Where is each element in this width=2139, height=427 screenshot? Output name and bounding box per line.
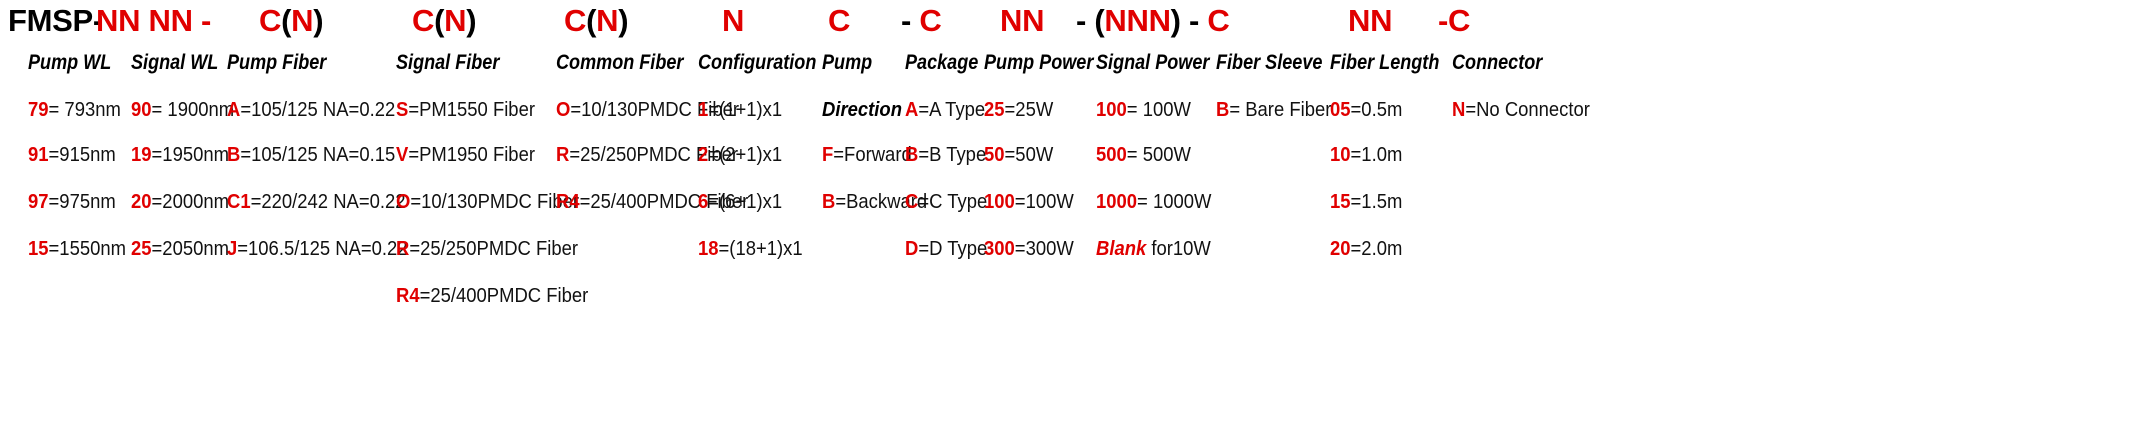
option-value: =1.5m	[1351, 190, 1403, 213]
option-value: =(18+1)x1	[719, 237, 803, 260]
option-row-fiber-length: 20=2.0m	[1330, 237, 1402, 261]
option-key: 91	[28, 143, 49, 166]
option-key: A	[905, 98, 918, 121]
option-key: 100	[1096, 98, 1127, 121]
option-row-signal-wl: 20=2000nm	[131, 190, 229, 214]
option-row-pump-power: 25=25W	[984, 98, 1053, 122]
option-key: C1	[227, 190, 251, 213]
option-key: O	[556, 98, 570, 121]
part-number-segment: - C	[901, 1, 941, 41]
option-value: = 100W	[1127, 98, 1191, 121]
option-row-package: A=A Type	[905, 98, 985, 122]
option-value: =PM1950 Fiber	[408, 143, 535, 166]
part-number-segment: NN	[1000, 1, 1044, 41]
option-value: =D Type	[918, 237, 987, 260]
option-key: 2	[698, 143, 708, 166]
option-value: =B Type	[918, 143, 986, 166]
option-row-signal-power: 500= 500W	[1096, 143, 1191, 167]
option-key: R	[396, 237, 409, 260]
option-value: =106.5/125 NA=0.22	[237, 237, 407, 260]
option-value: = 500W	[1127, 143, 1191, 166]
option-value: =2050nm	[152, 237, 229, 260]
option-value: =25W	[1005, 98, 1054, 121]
option-value: =(6+1)x1	[708, 190, 782, 213]
part-number-segment: C(N)	[259, 1, 323, 41]
option-value: =(2+1)x1	[708, 143, 782, 166]
option-key: 25	[984, 98, 1005, 121]
option-row-package: B=B Type	[905, 143, 986, 167]
part-number-segment: - (NNN) - C	[1076, 1, 1229, 41]
option-key: D	[905, 237, 918, 260]
column-header-fiber-length: Fiber Length	[1330, 50, 1439, 76]
option-row-configuration: 18=(18+1)x1	[698, 237, 803, 261]
part-number-segment: N	[722, 1, 744, 41]
option-key: 500	[1096, 143, 1127, 166]
option-row-pump-fiber: B=105/125 NA=0.15	[227, 143, 395, 167]
option-row-fiber-length: 15=1.5m	[1330, 190, 1402, 214]
option-key: 15	[28, 237, 49, 260]
option-value: =C Type	[918, 190, 987, 213]
option-row-pump: F=Forward	[822, 143, 912, 167]
option-value: = 1000W	[1137, 190, 1211, 213]
option-value: =105/125 NA=0.22	[240, 98, 395, 121]
part-number-code-row: FMSP-NN NN -C(N)C(N)C(N)NC- CNN- (NNN) -…	[0, 0, 2139, 42]
option-value: =105/125 NA=0.15	[240, 143, 395, 166]
option-key: 79	[28, 98, 49, 121]
option-value: =PM1550 Fiber	[408, 98, 535, 121]
column-header-package: Package	[905, 50, 978, 76]
option-key: V	[396, 143, 408, 166]
option-value: =300W	[1015, 237, 1074, 260]
option-value: =50W	[1005, 143, 1054, 166]
option-value: = 1900nm	[152, 98, 235, 121]
column-header-pump-power: Pump Power	[984, 50, 1093, 76]
option-key: 18	[698, 237, 719, 260]
option-key: 10	[1330, 143, 1351, 166]
option-key: 6	[698, 190, 708, 213]
option-value: =0.5m	[1351, 98, 1403, 121]
option-row-package: D=D Type	[905, 237, 987, 261]
column-header-pump-fiber: Pump Fiber	[227, 50, 326, 76]
option-row-package: C=C Type	[905, 190, 987, 214]
option-value: =A Type	[918, 98, 985, 121]
option-value: for10W	[1146, 237, 1211, 260]
option-row-configuration: 1=(1+1)x1	[698, 98, 782, 122]
part-number-segment: FMSP-	[8, 1, 103, 41]
option-value: =10/130PMDC Fiber	[410, 190, 579, 213]
column-header-pump: Pump	[822, 50, 872, 76]
option-value: =Forward	[833, 143, 911, 166]
option-value: =1.0m	[1351, 143, 1403, 166]
option-key: Blank	[1096, 237, 1146, 260]
option-row-pump-power: 50=50W	[984, 143, 1053, 167]
option-key: 20	[1330, 237, 1351, 260]
option-value: =2000nm	[152, 190, 229, 213]
option-key: B	[905, 143, 918, 166]
option-row-signal-power: 100= 100W	[1096, 98, 1191, 122]
option-value: =220/242 NA=0.22	[251, 190, 406, 213]
column-header-pump-wl: Pump WL	[28, 50, 111, 76]
option-row-fiber-length: 05=0.5m	[1330, 98, 1402, 122]
option-row-configuration: 6=(6+1)x1	[698, 190, 782, 214]
option-value: =2.0m	[1351, 237, 1403, 260]
option-key: F	[822, 143, 833, 166]
option-value: =25/400PMDC Fiber	[420, 284, 589, 307]
column-header-fiber-sleeve: Fiber Sleeve	[1216, 50, 1322, 76]
option-row-signal-wl: 90= 1900nm	[131, 98, 234, 122]
option-key: 20	[131, 190, 152, 213]
option-row-signal-fiber: V=PM1950 Fiber	[396, 143, 535, 167]
option-subheading-pump: Direction	[822, 98, 902, 122]
option-key: N	[1452, 98, 1465, 121]
option-row-pump-fiber: J=106.5/125 NA=0.22	[227, 237, 408, 261]
column-header-common-fiber: Common Fiber	[556, 50, 683, 76]
option-row-signal-wl: 25=2050nm	[131, 237, 229, 261]
option-key: 1000	[1096, 190, 1137, 213]
option-row-signal-wl: 19=1950nm	[131, 143, 229, 167]
column-header-configuration: Configuration	[698, 50, 816, 76]
option-row-fiber-length: 10=1.0m	[1330, 143, 1402, 167]
option-row-signal-fiber: S=PM1550 Fiber	[396, 98, 535, 122]
option-row-pump-power: 100=100W	[984, 190, 1074, 214]
option-key: R4	[396, 284, 420, 307]
option-key: B	[822, 190, 835, 213]
option-key: R4	[556, 190, 580, 213]
option-key: 300	[984, 237, 1015, 260]
option-value: =915nm	[49, 143, 116, 166]
option-value: =100W	[1015, 190, 1074, 213]
option-key: C	[905, 190, 918, 213]
option-key: B	[1216, 98, 1229, 121]
option-row-signal-fiber: O=10/130PMDC Fiber	[396, 190, 579, 214]
option-row-connector: N=No Connector	[1452, 98, 1590, 122]
option-key: 50	[984, 143, 1005, 166]
option-key: S	[396, 98, 408, 121]
option-row-pump-wl: 91=915nm	[28, 143, 116, 167]
option-row-pump-wl: 79= 793nm	[28, 98, 121, 122]
part-number-segment: -C	[1438, 1, 1470, 41]
option-row-pump-fiber: A=105/125 NA=0.22	[227, 98, 395, 122]
column-header-signal-fiber: Signal Fiber	[396, 50, 499, 76]
option-key: 100	[984, 190, 1015, 213]
option-key: J	[227, 237, 237, 260]
option-key: 97	[28, 190, 49, 213]
option-value: =(1+1)x1	[708, 98, 782, 121]
option-row-pump-fiber: C1=220/242 NA=0.22	[227, 190, 406, 214]
option-key: 25	[131, 237, 152, 260]
option-value: = 793nm	[49, 98, 121, 121]
option-row-signal-fiber: R4=25/400PMDC Fiber	[396, 284, 588, 308]
part-number-segment: C	[828, 1, 850, 41]
part-number-segment: C(N)	[412, 1, 476, 41]
option-key: 1	[698, 98, 708, 121]
option-key: 90	[131, 98, 152, 121]
option-row-signal-power: 1000= 1000W	[1096, 190, 1211, 214]
option-key: 05	[1330, 98, 1351, 121]
option-key: B	[227, 143, 240, 166]
part-number-segment: NN NN -	[96, 1, 211, 41]
option-value: =975nm	[49, 190, 116, 213]
option-key: R	[556, 143, 569, 166]
option-row-pump-wl: 97=975nm	[28, 190, 116, 214]
option-value: =25/250PMDC Fiber	[409, 237, 578, 260]
part-number-configurator-sheet: FMSP-NN NN -C(N)C(N)C(N)NC- CNN- (NNN) -…	[0, 0, 2139, 427]
column-header-signal-power: Signal Power	[1096, 50, 1209, 76]
option-row-pump-wl: 15=1550nm	[28, 237, 126, 261]
option-row-signal-fiber: R=25/250PMDC Fiber	[396, 237, 578, 261]
option-value: = Bare Fiber	[1229, 98, 1331, 121]
part-number-segment: NN	[1348, 1, 1392, 41]
option-row-signal-power: Blank for10W	[1096, 237, 1211, 261]
option-key: 15	[1330, 190, 1351, 213]
option-key: A	[227, 98, 240, 121]
part-number-segment: C(N)	[564, 1, 628, 41]
column-header-connector: Connector	[1452, 50, 1542, 76]
option-key: O	[396, 190, 410, 213]
option-row-configuration: 2=(2+1)x1	[698, 143, 782, 167]
option-value: =1950nm	[152, 143, 229, 166]
option-value: =No Connector	[1465, 98, 1590, 121]
option-row-fiber-sleeve: B= Bare Fiber	[1216, 98, 1331, 122]
option-row-pump-power: 300=300W	[984, 237, 1074, 261]
option-value: =1550nm	[49, 237, 126, 260]
column-header-signal-wl: Signal WL	[131, 50, 218, 76]
option-key: 19	[131, 143, 152, 166]
